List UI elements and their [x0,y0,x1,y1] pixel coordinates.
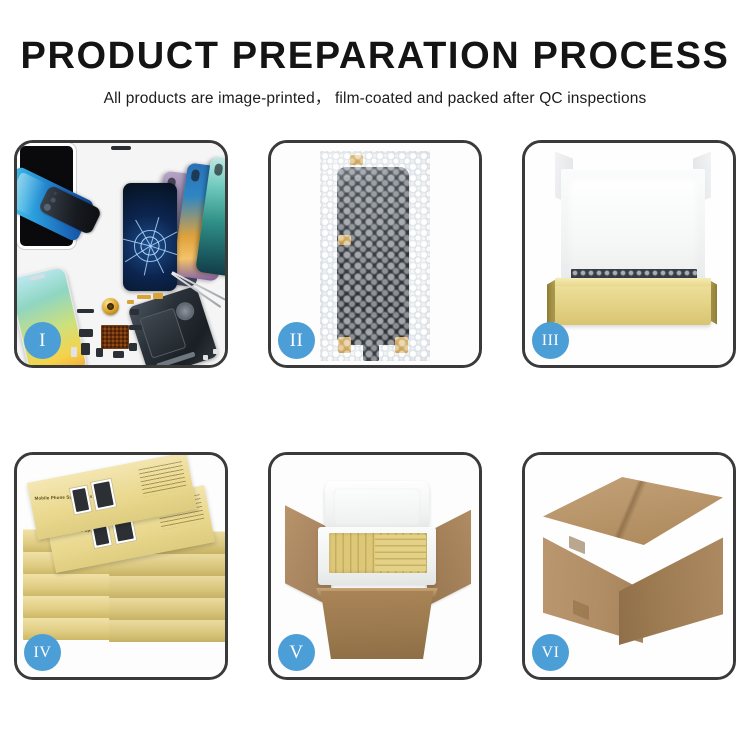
tape-tab [350,155,363,165]
header: PRODUCT PREPARATION PROCESS All products… [0,34,750,108]
panel-stacked-retail-boxes[interactable]: Mobile Phone Spare Parts Mobile Phone Sp… [14,452,228,680]
white-foam-sheet [567,177,699,283]
process-step-grid: I II [14,140,736,680]
panel-sealed-shipping-carton[interactable]: VI [522,452,736,680]
tape-seal [569,536,585,554]
page-title: PRODUCT PREPARATION PROCESS [0,34,750,78]
carton-top-face [543,477,723,545]
small-part [129,325,142,330]
panel-5-photo: V [271,455,479,677]
product-preparation-infographic: PRODUCT PREPARATION PROCESS All products… [0,0,750,750]
panel-2-photo: II [271,143,479,365]
flex-cable-part [137,295,151,299]
step-badge-3: III [532,322,569,359]
panel-6-photo: VI [525,455,733,677]
small-part [129,343,137,351]
small-part [96,348,103,357]
tape-tab [338,337,351,353]
small-part [213,349,219,354]
small-part [79,329,93,337]
step-badge-2: II [278,322,315,359]
page-subtitle: All products are image-printed， film-coa… [0,86,750,108]
step-badge-5: V [278,634,315,671]
carton-with-cooler [285,469,471,663]
box-front-panel [555,285,711,325]
circuit-board-part [101,325,129,349]
flex-cable-part [127,300,134,304]
small-part [130,309,139,315]
step-badge-6: VI [532,634,569,671]
panel-carton-with-foam-cooler[interactable]: V [268,452,482,680]
panel-products-and-parts[interactable]: I [14,140,228,368]
wrapped-display-assembly [337,167,409,345]
open-kraft-box [547,155,717,333]
small-part [81,343,90,355]
small-part [71,347,77,357]
panel-1-photo: I [17,143,225,365]
panel-open-inner-box[interactable]: III [522,140,736,368]
small-part [113,351,124,358]
step-badge-1: I [24,322,61,359]
sealed-carton [543,477,723,645]
panel-4-photo: Mobile Phone Spare Parts Mobile Phone Sp… [17,455,225,677]
styrofoam-lid [325,481,429,533]
small-part [77,309,94,313]
tape-tab [395,337,408,353]
carton-front [313,591,441,659]
panel-3-photo: III [525,143,733,365]
speaker-coil-part [102,298,119,315]
small-part [203,355,208,360]
step-badge-4: IV [24,634,61,671]
packed-yellow-boxes [329,533,427,573]
tape-tab [338,235,351,245]
panel-bubble-wrap[interactable]: II [268,140,482,368]
bubble-wrap-bag [320,151,430,361]
flex-cable-part [153,293,163,299]
